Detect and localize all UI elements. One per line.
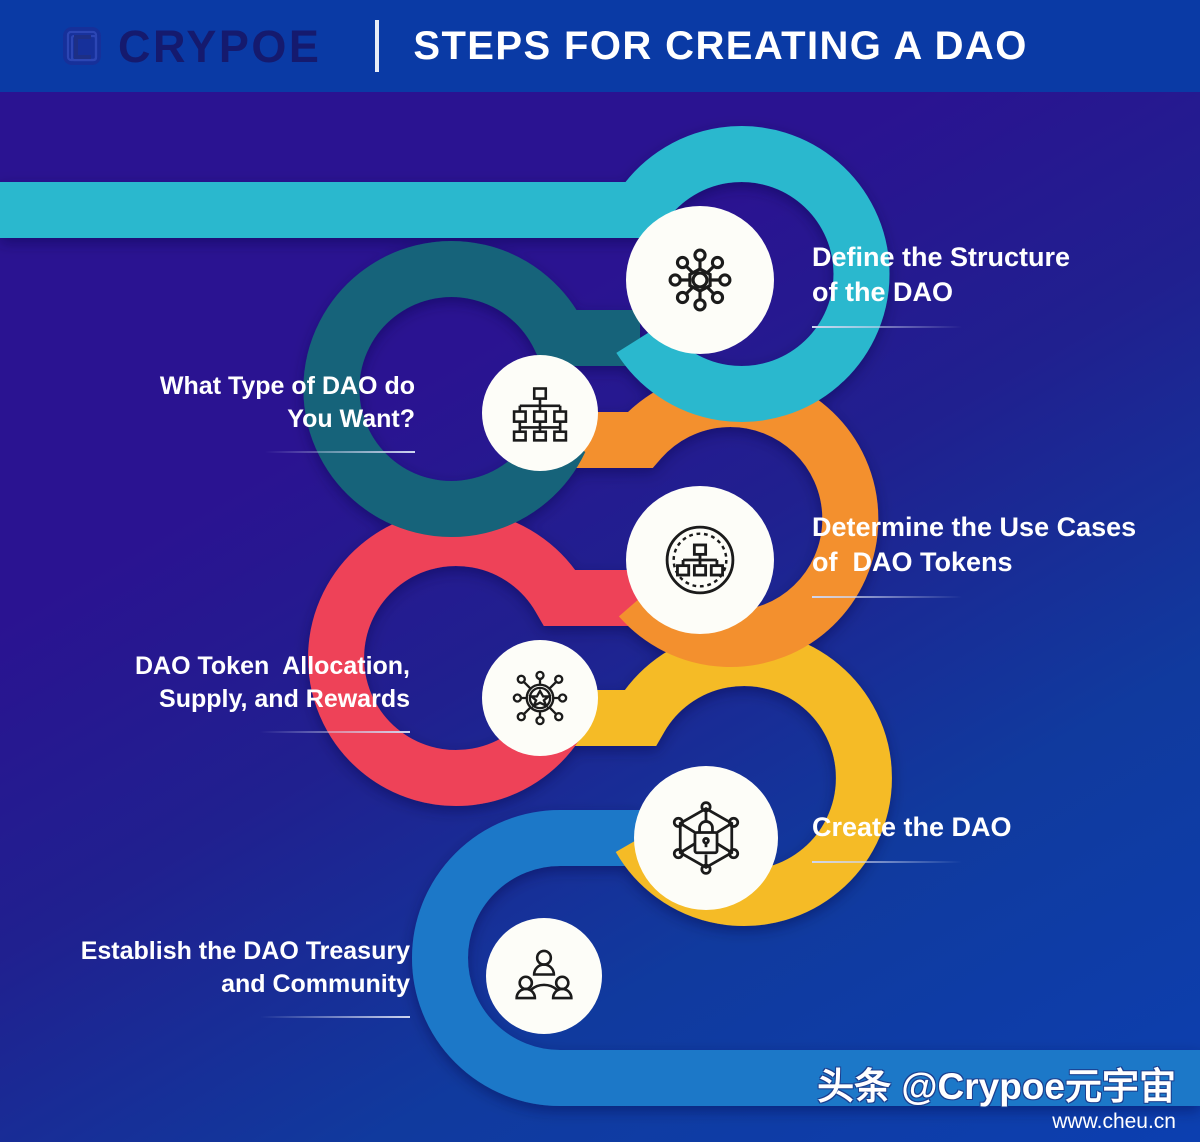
step-label-4: DAO Token Allocation, Supply, and Reward… <box>40 650 410 733</box>
step-label-2-line-2: You Want? <box>60 403 415 436</box>
step-label-2: What Type of DAO do You Want? <box>60 370 415 453</box>
step-rule-4 <box>260 731 410 733</box>
step-label-5-line-1: Create the DAO <box>812 810 1012 845</box>
step-label-4-line-1: DAO Token Allocation, <box>40 650 410 683</box>
step-node-3[interactable] <box>626 486 774 634</box>
step-label-4-line-2: Supply, and Rewards <box>40 683 410 716</box>
step-label-6: Establish the DAO Treasury and Community <box>10 935 410 1018</box>
watermark: 头条 @Crypoe元宇宙 www.cheu.cn <box>817 1068 1176 1134</box>
header-divider <box>375 20 379 72</box>
step-label-5: Create the DAO <box>812 810 1012 863</box>
brand-logo: CRYPOE <box>60 24 321 69</box>
step-label-2-line-1: What Type of DAO do <box>60 370 415 403</box>
step-label-3-line-1: Determine the Use Cases <box>812 510 1136 545</box>
step-rule-5 <box>812 861 962 863</box>
watermark-handle: 头条 @Crypoe元宇宙 <box>817 1068 1176 1107</box>
step-label-1: Define the Structure of the DAO <box>812 240 1070 328</box>
nested-squares-logo-icon <box>60 24 104 68</box>
dashed-circle-hierarchy-icon <box>653 513 747 607</box>
step-node-6[interactable] <box>486 918 602 1034</box>
step-rule-3 <box>812 596 962 598</box>
step-label-6-line-1: Establish the DAO Treasury <box>10 935 410 968</box>
infographic-page: CRYPOE STEPS FOR CREATING A DAO <box>0 0 1200 1142</box>
step-label-1-line-1: Define the Structure <box>812 240 1070 275</box>
logo-wordmark: CRYPOE <box>118 24 321 69</box>
community-people-icon <box>506 938 582 1014</box>
hexagon-lock-icon <box>660 792 752 884</box>
step-node-2[interactable] <box>482 355 598 471</box>
step-rule-1 <box>812 326 962 328</box>
step-node-4[interactable] <box>482 640 598 756</box>
step-label-6-line-2: and Community <box>10 968 410 1001</box>
step-rule-6 <box>260 1016 410 1018</box>
step-label-3-line-2: of DAO Tokens <box>812 545 1136 580</box>
step-node-1[interactable] <box>626 206 774 354</box>
header-bar: CRYPOE STEPS FOR CREATING A DAO <box>0 0 1200 92</box>
step-label-1-line-2: of the DAO <box>812 275 1070 310</box>
network-hub-icon <box>654 234 746 326</box>
watermark-url: www.cheu.cn <box>817 1109 1176 1134</box>
page-title: STEPS FOR CREATING A DAO <box>413 24 1027 69</box>
step-label-3: Determine the Use Cases of DAO Tokens <box>812 510 1136 598</box>
org-chart-icon <box>504 377 576 449</box>
token-star-chip-icon <box>501 659 579 737</box>
step-rule-2 <box>265 451 415 453</box>
step-node-5[interactable] <box>634 766 778 910</box>
